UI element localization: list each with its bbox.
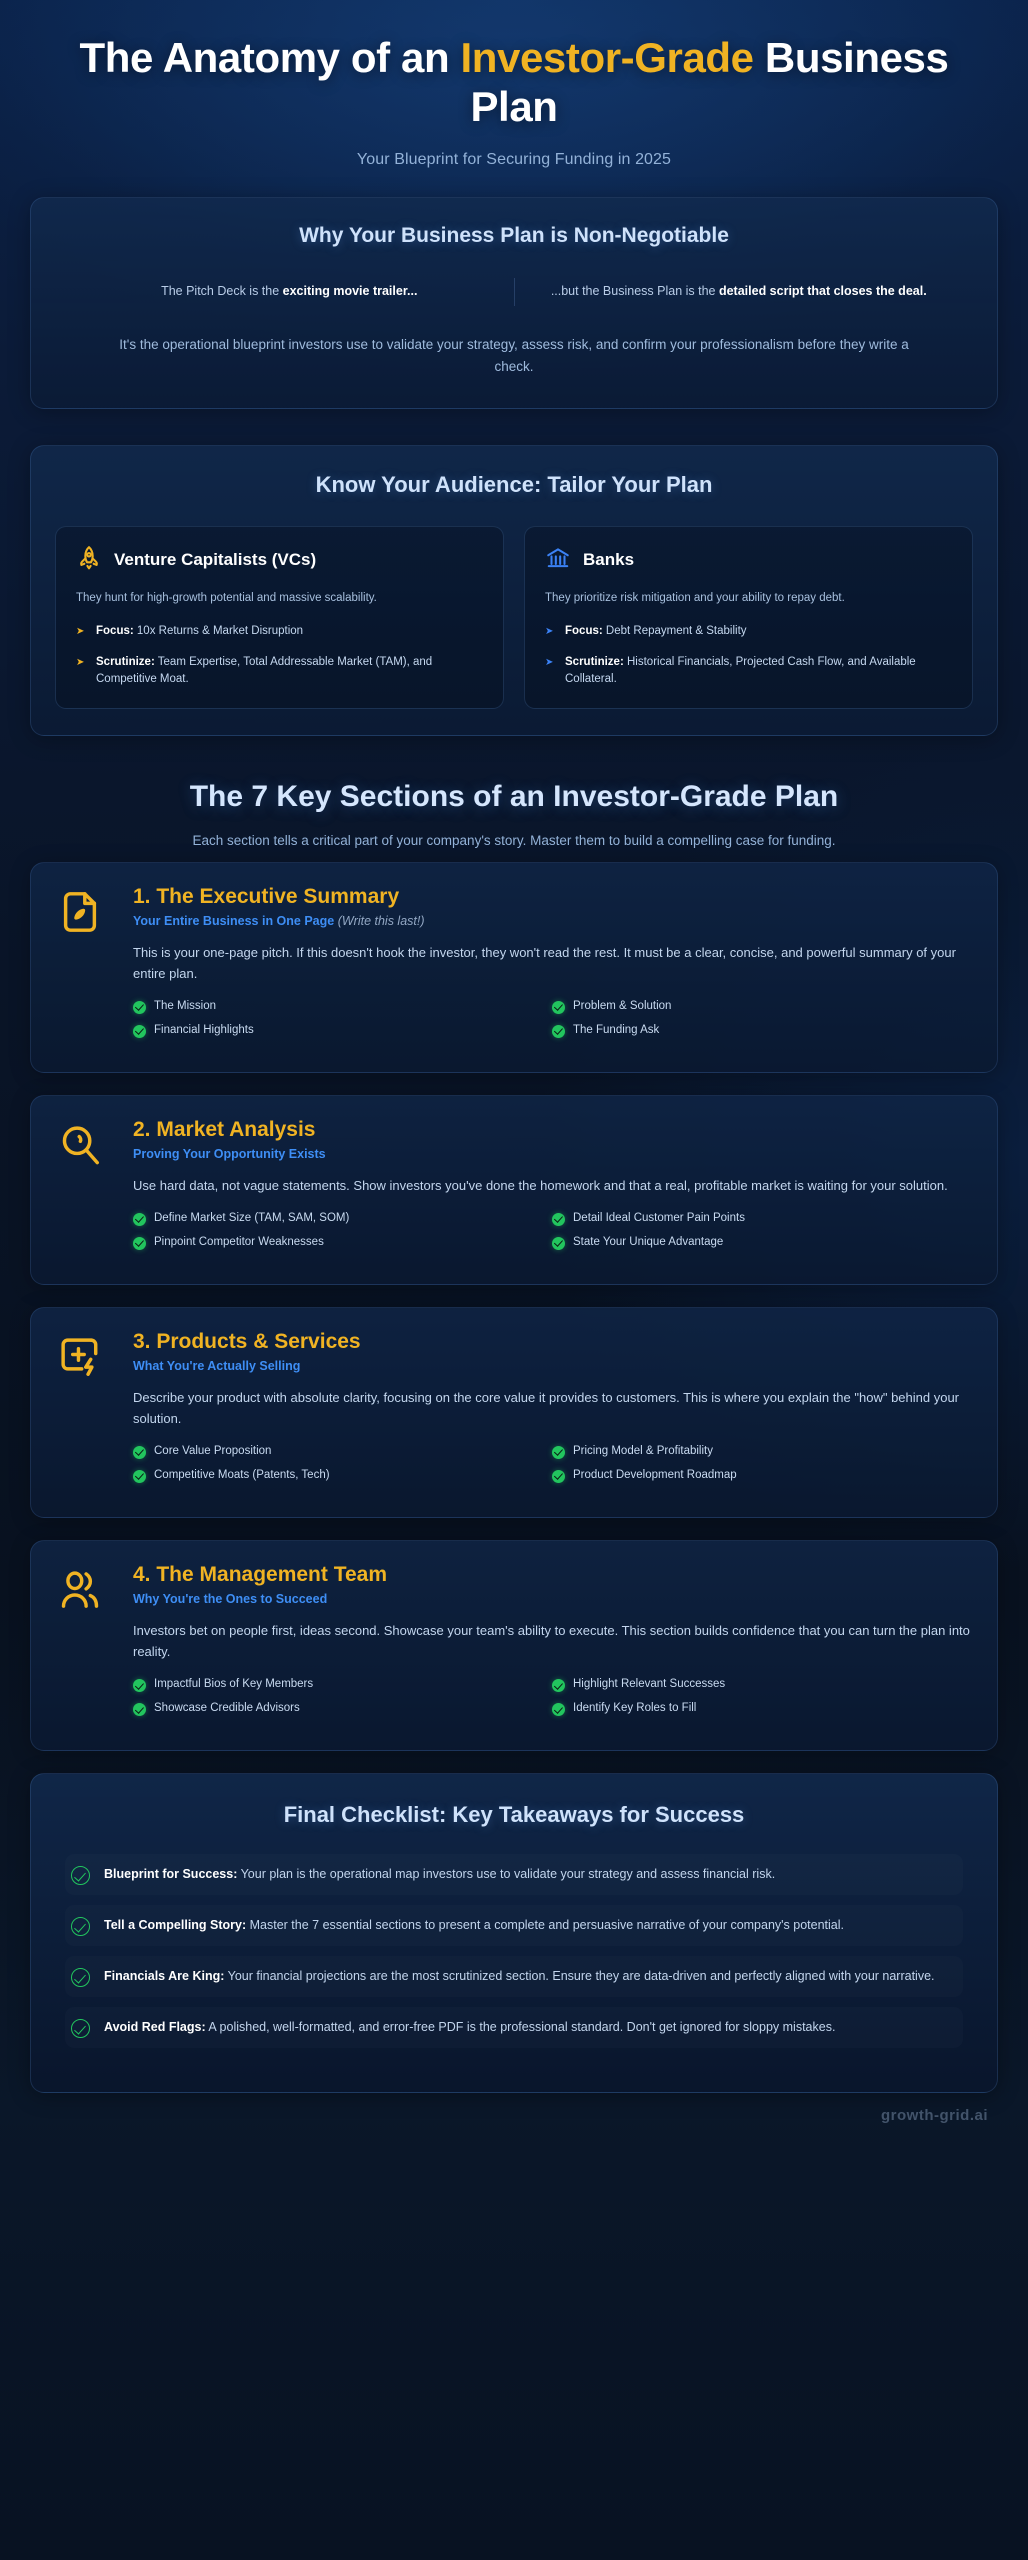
audience-banks-title: Banks — [583, 550, 634, 570]
list-item: Financial Highlights — [133, 1024, 552, 1038]
document-icon — [57, 885, 111, 1048]
check-circle-icon — [133, 1213, 146, 1226]
check-circle-icon — [133, 1703, 146, 1716]
check-label: State Your Unique Advantage — [573, 1236, 723, 1248]
list-item: Detail Ideal Customer Pain Points — [552, 1212, 971, 1226]
check-circle-icon — [552, 1679, 565, 1692]
section-body: 4. The Management Team Why You're the On… — [133, 1563, 971, 1726]
section-title: 4. The Management Team — [133, 1563, 971, 1587]
list-item: ➤ Focus: Debt Repayment & Stability — [545, 623, 952, 640]
audience-grid: Venture Capitalists (VCs) They hunt for … — [55, 526, 973, 710]
check-label: Highlight Relevant Successes — [573, 1678, 725, 1690]
point-text: Scrutinize: Historical Financials, Proje… — [565, 654, 952, 689]
section-tagline: Why You're the Ones to Succeed — [133, 1592, 971, 1606]
section-tagline: Proving Your Opportunity Exists — [133, 1147, 971, 1161]
check-circle-outline-icon — [71, 1968, 90, 1987]
bank-icon — [545, 545, 571, 576]
point-label: Scrutinize: — [565, 656, 624, 668]
arrow-bullet-icon: ➤ — [545, 654, 556, 689]
list-item: Showcase Credible Advisors — [133, 1702, 552, 1716]
section-checks: The Mission Problem & Solution Financial… — [133, 1000, 971, 1048]
list-item: Avoid Red Flags: A polished, well-format… — [65, 2007, 963, 2048]
check-circle-icon — [133, 1470, 146, 1483]
tagline-text: Proving Your Opportunity Exists — [133, 1147, 326, 1161]
section-tagline: What You're Actually Selling — [133, 1359, 971, 1373]
list-item: ➤ Scrutinize: Team Expertise, Total Addr… — [76, 654, 483, 689]
takeaway-text: Avoid Red Flags: A polished, well-format… — [104, 2017, 835, 2038]
section-body: 3. Products & Services What You're Actua… — [133, 1330, 971, 1493]
list-item: Financials Are King: Your financial proj… — [65, 1956, 963, 1997]
section-body: 2. Market Analysis Proving Your Opportun… — [133, 1118, 971, 1260]
point-label: Scrutinize: — [96, 656, 155, 668]
audience-vc-points: ➤ Focus: 10x Returns & Market Disruption… — [76, 623, 483, 688]
list-item: ➤ Scrutinize: Historical Financials, Pro… — [545, 654, 952, 689]
audience-banks-description: They prioritize risk mitigation and your… — [545, 590, 952, 608]
audience-vc-title: Venture Capitalists (VCs) — [114, 550, 316, 570]
section-description: Use hard data, not vague statements. Sho… — [133, 1175, 971, 1196]
check-circle-icon — [133, 1446, 146, 1459]
check-label: Financial Highlights — [154, 1024, 254, 1036]
section-title: 3. Products & Services — [133, 1330, 971, 1354]
infographic-page: The Anatomy of an Investor-Grade Busines… — [0, 0, 1028, 2560]
section-card-market-analysis: 2. Market Analysis Proving Your Opportun… — [30, 1095, 998, 1285]
list-item: The Funding Ask — [552, 1024, 971, 1038]
why-right-plain: ...but the Business Plan is the — [551, 284, 719, 298]
list-item: Problem & Solution — [552, 1000, 971, 1014]
list-item: Highlight Relevant Successes — [552, 1678, 971, 1692]
audience-vc-description: They hunt for high-growth potential and … — [76, 590, 483, 608]
point-text: Focus: Debt Repayment & Stability — [565, 623, 747, 640]
rocket-icon — [76, 545, 102, 576]
check-circle-icon — [552, 1703, 565, 1716]
audience-title: Know Your Audience: Tailor Your Plan — [55, 472, 973, 498]
product-bolt-icon — [57, 1330, 111, 1493]
point-text: Focus: 10x Returns & Market Disruption — [96, 623, 303, 640]
check-circle-icon — [133, 1679, 146, 1692]
section-checks: Impactful Bios of Key Members Highlight … — [133, 1678, 971, 1726]
takeaway-label: Blueprint for Success: — [104, 1867, 237, 1881]
why-left-bold: exciting movie trailer... — [283, 284, 418, 298]
check-label: Detail Ideal Customer Pain Points — [573, 1212, 745, 1224]
why-card-footer: It's the operational blueprint investors… — [65, 334, 963, 378]
section-tagline: Your Entire Business in One Page (Write … — [133, 914, 971, 928]
list-item: Competitive Moats (Patents, Tech) — [133, 1469, 552, 1483]
tagline-note: (Write this last!) — [338, 914, 425, 928]
list-item: Product Development Roadmap — [552, 1469, 971, 1483]
point-label: Focus: — [565, 625, 603, 637]
why-column-pitch-deck: The Pitch Deck is the exciting movie tra… — [65, 278, 515, 305]
arrow-bullet-icon: ➤ — [76, 654, 87, 689]
check-label: Core Value Proposition — [154, 1445, 271, 1457]
takeaway-body: Your plan is the operational map investo… — [237, 1867, 775, 1881]
section-card-management-team: 4. The Management Team Why You're the On… — [30, 1540, 998, 1751]
check-label: The Mission — [154, 1000, 216, 1012]
list-item: Pricing Model & Profitability — [552, 1445, 971, 1459]
final-checklist-title: Final Checklist: Key Takeaways for Succe… — [65, 1802, 963, 1828]
point-text: Scrutinize: Team Expertise, Total Addres… — [96, 654, 483, 689]
check-label: Problem & Solution — [573, 1000, 671, 1012]
audience-card: Know Your Audience: Tailor Your Plan Ven… — [30, 445, 998, 737]
section-card-products-services: 3. Products & Services What You're Actua… — [30, 1307, 998, 1518]
check-circle-icon — [552, 1470, 565, 1483]
magnifier-icon — [57, 1118, 111, 1260]
check-label: The Funding Ask — [573, 1024, 659, 1036]
check-label: Competitive Moats (Patents, Tech) — [154, 1469, 330, 1481]
check-circle-icon — [552, 1001, 565, 1014]
audience-card-vc: Venture Capitalists (VCs) They hunt for … — [55, 526, 504, 710]
list-item: Tell a Compelling Story: Master the 7 es… — [65, 1905, 963, 1946]
list-item: The Mission — [133, 1000, 552, 1014]
audience-banks-points: ➤ Focus: Debt Repayment & Stability ➤ Sc… — [545, 623, 952, 688]
check-label: Identify Key Roles to Fill — [573, 1702, 696, 1714]
section-checks: Core Value Proposition Pricing Model & P… — [133, 1445, 971, 1493]
why-card: Why Your Business Plan is Non-Negotiable… — [30, 197, 998, 408]
list-item: Define Market Size (TAM, SAM, SOM) — [133, 1212, 552, 1226]
list-item: Core Value Proposition — [133, 1445, 552, 1459]
tagline-text: Why You're the Ones to Succeed — [133, 1592, 327, 1606]
section-checks: Define Market Size (TAM, SAM, SOM) Detai… — [133, 1212, 971, 1260]
takeaway-text: Financials Are King: Your financial proj… — [104, 1966, 935, 1987]
check-circle-icon — [552, 1025, 565, 1038]
why-comparison: The Pitch Deck is the exciting movie tra… — [65, 278, 963, 305]
page-title: The Anatomy of an Investor-Grade Busines… — [70, 34, 958, 131]
takeaway-text: Tell a Compelling Story: Master the 7 es… — [104, 1915, 844, 1936]
why-column-business-plan: ...but the Business Plan is the detailed… — [515, 278, 964, 305]
hero-section: The Anatomy of an Investor-Grade Busines… — [0, 0, 1028, 197]
section-title: 2. Market Analysis — [133, 1118, 971, 1142]
sections-subtitle: Each section tells a critical part of yo… — [70, 830, 958, 852]
takeaway-body: Your financial projections are the most … — [224, 1969, 934, 1983]
list-item: Blueprint for Success: Your plan is the … — [65, 1854, 963, 1895]
list-item: Pinpoint Competitor Weaknesses — [133, 1236, 552, 1250]
footer-watermark: growth-grid.ai — [0, 2093, 1028, 2136]
audience-vc-header: Venture Capitalists (VCs) — [76, 545, 483, 576]
check-label: Pricing Model & Profitability — [573, 1445, 713, 1457]
audience-banks-header: Banks — [545, 545, 952, 576]
section-title: 1. The Executive Summary — [133, 885, 971, 909]
people-icon — [57, 1563, 111, 1726]
point-label: Focus: — [96, 625, 134, 637]
page-subtitle: Your Blueprint for Securing Funding in 2… — [70, 151, 958, 169]
tagline-text: Your Entire Business in One Page — [133, 914, 334, 928]
sections-header: The 7 Key Sections of an Investor-Grade … — [0, 772, 1028, 862]
why-right-bold: detailed script that closes the deal. — [719, 284, 927, 298]
check-label: Impactful Bios of Key Members — [154, 1678, 313, 1690]
point-value: 10x Returns & Market Disruption — [134, 625, 303, 637]
check-circle-icon — [133, 1237, 146, 1250]
takeaway-label: Avoid Red Flags: — [104, 2020, 206, 2034]
check-label: Define Market Size (TAM, SAM, SOM) — [154, 1212, 349, 1224]
check-label: Product Development Roadmap — [573, 1469, 737, 1481]
sections-title: The 7 Key Sections of an Investor-Grade … — [70, 780, 958, 814]
takeaway-label: Tell a Compelling Story: — [104, 1918, 246, 1932]
audience-card-banks: Banks They prioritize risk mitigation an… — [524, 526, 973, 710]
list-item: Impactful Bios of Key Members — [133, 1678, 552, 1692]
check-circle-icon — [552, 1213, 565, 1226]
check-label: Pinpoint Competitor Weaknesses — [154, 1236, 324, 1248]
tagline-text: What You're Actually Selling — [133, 1359, 300, 1373]
takeaway-body: Master the 7 essential sections to prese… — [246, 1918, 844, 1932]
check-circle-outline-icon — [71, 1917, 90, 1936]
check-circle-icon — [552, 1237, 565, 1250]
section-card-executive-summary: 1. The Executive Summary Your Entire Bus… — [30, 862, 998, 1073]
check-circle-icon — [133, 1025, 146, 1038]
why-left-plain: The Pitch Deck is the — [161, 284, 283, 298]
point-value: Debt Repayment & Stability — [603, 625, 747, 637]
section-description: Investors bet on people first, ideas sec… — [133, 1620, 971, 1662]
section-description: This is your one-page pitch. If this doe… — [133, 942, 971, 984]
check-circle-icon — [552, 1446, 565, 1459]
section-description: Describe your product with absolute clar… — [133, 1387, 971, 1429]
takeaway-text: Blueprint for Success: Your plan is the … — [104, 1864, 775, 1885]
check-circle-outline-icon — [71, 2019, 90, 2038]
list-item: State Your Unique Advantage — [552, 1236, 971, 1250]
list-item: ➤ Focus: 10x Returns & Market Disruption — [76, 623, 483, 640]
title-highlight: Investor-Grade — [460, 34, 753, 81]
section-body: 1. The Executive Summary Your Entire Bus… — [133, 885, 971, 1048]
takeaway-label: Financials Are King: — [104, 1969, 224, 1983]
check-circle-icon — [133, 1001, 146, 1014]
check-circle-outline-icon — [71, 1866, 90, 1885]
final-checklist-card: Final Checklist: Key Takeaways for Succe… — [30, 1773, 998, 2093]
check-label: Showcase Credible Advisors — [154, 1702, 300, 1714]
title-part-1: The Anatomy of an — [80, 34, 461, 81]
list-item: Identify Key Roles to Fill — [552, 1702, 971, 1716]
takeaway-body: A polished, well-formatted, and error-fr… — [206, 2020, 836, 2034]
arrow-bullet-icon: ➤ — [76, 623, 87, 640]
arrow-bullet-icon: ➤ — [545, 623, 556, 640]
why-card-title: Why Your Business Plan is Non-Negotiable — [65, 224, 963, 248]
